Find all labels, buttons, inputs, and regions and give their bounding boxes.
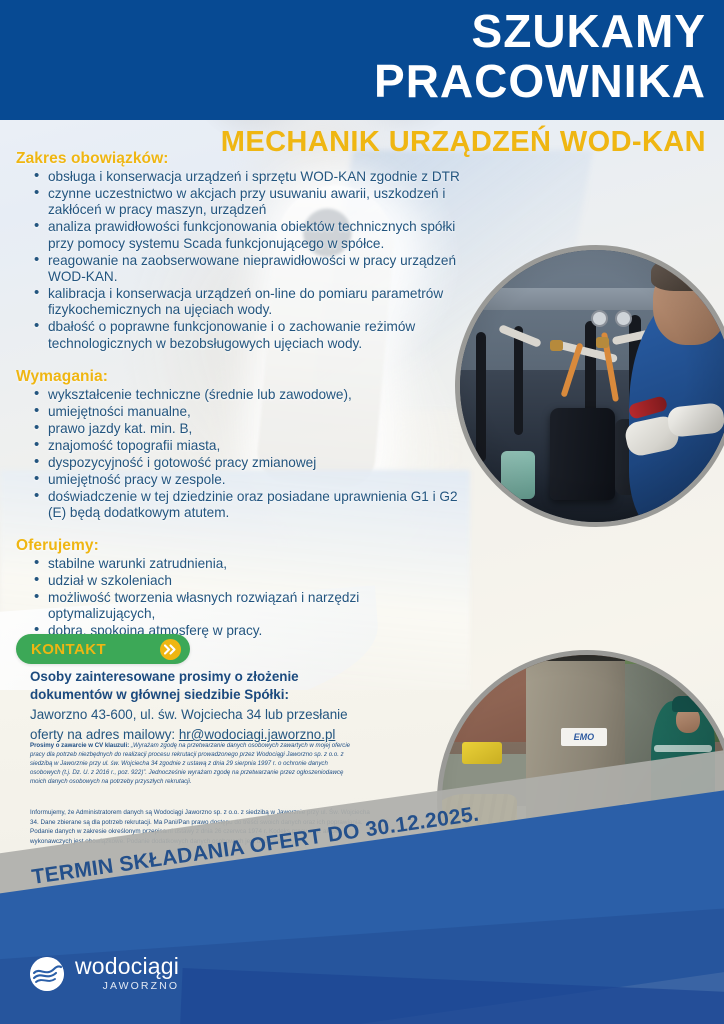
list-item: dbałość o poprawne funkcjonowanie i o za… <box>34 319 470 352</box>
logo-text: wodociągi JAWORZNO <box>75 955 179 992</box>
poster-header: SZUKAMY PRACOWNIKA <box>0 0 724 120</box>
photo-vignette <box>460 250 724 522</box>
list-item: obsługa i konserwacja urządzeń i sprzętu… <box>34 169 470 185</box>
list-item: stabilne warunki zatrudnienia, <box>34 556 470 572</box>
company-logo: wodociągi JAWORZNO <box>30 955 179 992</box>
section-requirements: Wymagania: wykształcenie techniczne (śre… <box>0 368 470 521</box>
list-item: czynne uczestnictwo w akcjach przy usuwa… <box>34 186 470 219</box>
list-item: analiza prawidłowości funkcjonowania obi… <box>34 219 470 252</box>
section-heading: Oferujemy: <box>16 537 470 555</box>
list-item: znajomość topografii miasta, <box>34 438 470 454</box>
list-item: kalibracja i konserwacja urządzeń on-lin… <box>34 286 470 319</box>
requirements-list: wykształcenie techniczne (średnie lub za… <box>34 387 470 521</box>
section-heading: Wymagania: <box>16 368 470 386</box>
gdpr-clause: Prosimy o zawarcie w CV klauzuli: „Wyraż… <box>30 741 360 786</box>
gdpr-clause-label: Prosimy o zawarcie w CV klauzuli: <box>30 742 129 749</box>
responsibilities-list: obsługa i konserwacja urządzeń i sprzętu… <box>34 169 470 352</box>
contact-email-link[interactable]: hr@wodociagi.jaworzno.pl <box>179 727 336 742</box>
list-item: umiejętności manualne, <box>34 404 470 420</box>
list-item: prawo jazdy kat. min. B, <box>34 421 470 437</box>
list-item: doświadczenie w tej dziedzinie oraz posi… <box>34 489 470 522</box>
list-item: wykształcenie techniczne (średnie lub za… <box>34 387 470 403</box>
contact-bold-line-1: Osoby zainteresowane prosimy o złożenie <box>30 668 380 686</box>
section-responsibilities: Zakres obowiązków: obsługa i konserwacja… <box>0 150 470 352</box>
water-wave-circle-icon <box>30 957 64 991</box>
list-item: dyspozycyjność i gotowość pracy zmianowe… <box>34 455 470 471</box>
contact-badge-label: KONTAKT <box>31 641 160 658</box>
contact-badge[interactable]: KONTAKT <box>16 634 190 664</box>
job-poster: SZUKAMY PRACOWNIKA MECHANIK URZĄDZEŃ WOD… <box>0 0 724 1024</box>
contact-address: Jaworzno 43-600, ul. św. Wojciecha 34 lu… <box>30 706 380 724</box>
content-column: Zakres obowiązków: obsługa i konserwacja… <box>0 150 470 640</box>
contact-details: Osoby zainteresowane prosimy o złożenie … <box>30 668 380 744</box>
contact-bold-line-2: dokumentów w głównej siedzibie Spółki: <box>30 686 380 704</box>
list-item: umiejętność pracy w zespole. <box>34 472 470 488</box>
poster-title: SZUKAMY PRACOWNIKA <box>374 6 706 106</box>
contact-badge-wrap: KONTAKT <box>16 634 190 664</box>
list-item: możliwość tworzenia własnych rozwiązań i… <box>34 590 470 623</box>
list-item: udział w szkoleniach <box>34 573 470 589</box>
section-heading: Zakres obowiązków: <box>16 150 470 168</box>
logo-subtitle: JAWORZNO <box>75 980 179 992</box>
contact-email-prefix: oferty na adres mailowy: <box>30 727 179 742</box>
list-item: reagowanie na zaobserwowane nieprawidłow… <box>34 253 470 286</box>
logo-name: wodociągi <box>75 955 179 978</box>
technician-photo <box>455 245 724 527</box>
double-chevron-right-icon <box>160 639 181 660</box>
section-offer: Oferujemy: stabilne warunki zatrudnienia… <box>0 537 470 640</box>
offer-list: stabilne warunki zatrudnienia, udział w … <box>34 556 470 640</box>
